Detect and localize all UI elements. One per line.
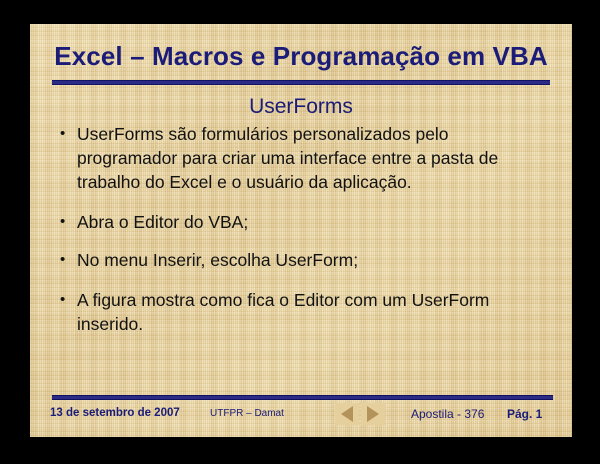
footer-divider: [52, 395, 553, 400]
list-item: • Abra o Editor do VBA;: [60, 210, 550, 234]
previous-slide-button[interactable]: [335, 403, 359, 425]
presentation-viewport: Excel – Macros e Programação em VBA User…: [0, 0, 600, 464]
spacer: [60, 234, 550, 248]
triangle-right-icon: [367, 406, 379, 422]
slide-footer: 13 de setembro de 2007 UTFPR – Damat Apo…: [30, 405, 572, 429]
navigation-controls[interactable]: [335, 403, 385, 425]
footer-date: 13 de setembro de 2007: [50, 407, 180, 419]
triangle-left-icon: [341, 406, 353, 422]
slide-canvas: Excel – Macros e Programação em VBA User…: [30, 24, 572, 437]
bullet-marker-icon: •: [60, 210, 77, 234]
footer-organization: UTFPR – Damat: [210, 408, 284, 419]
bullet-marker-icon: •: [60, 122, 77, 146]
list-item: • A figura mostra como fica o Editor com…: [60, 288, 550, 336]
next-slide-button[interactable]: [361, 403, 385, 425]
slide-subtitle: UserForms: [30, 94, 572, 120]
list-item-text: UserForms são formulários personalizados…: [77, 122, 550, 194]
list-item-text: A figura mostra como fica o Editor com u…: [77, 288, 550, 336]
spacer: [60, 272, 550, 288]
list-item-text: Abra o Editor do VBA;: [77, 210, 550, 234]
title-divider: [52, 80, 550, 85]
title-block: Excel – Macros e Programação em VBA: [30, 40, 572, 72]
list-item: • No menu Inserir, escolha UserForm;: [60, 248, 550, 272]
footer-reference: Apostila - 376: [411, 407, 484, 421]
list-item-text: No menu Inserir, escolha UserForm;: [77, 248, 550, 272]
bullet-marker-icon: •: [60, 288, 77, 312]
bullet-marker-icon: •: [60, 248, 77, 272]
footer-page-number: Pág. 1: [507, 407, 542, 421]
list-item: • UserForms são formulários personalizad…: [60, 122, 550, 194]
spacer: [60, 194, 550, 210]
bullet-list: • UserForms são formulários personalizad…: [60, 122, 550, 336]
page-title: Excel – Macros e Programação em VBA: [30, 40, 572, 72]
